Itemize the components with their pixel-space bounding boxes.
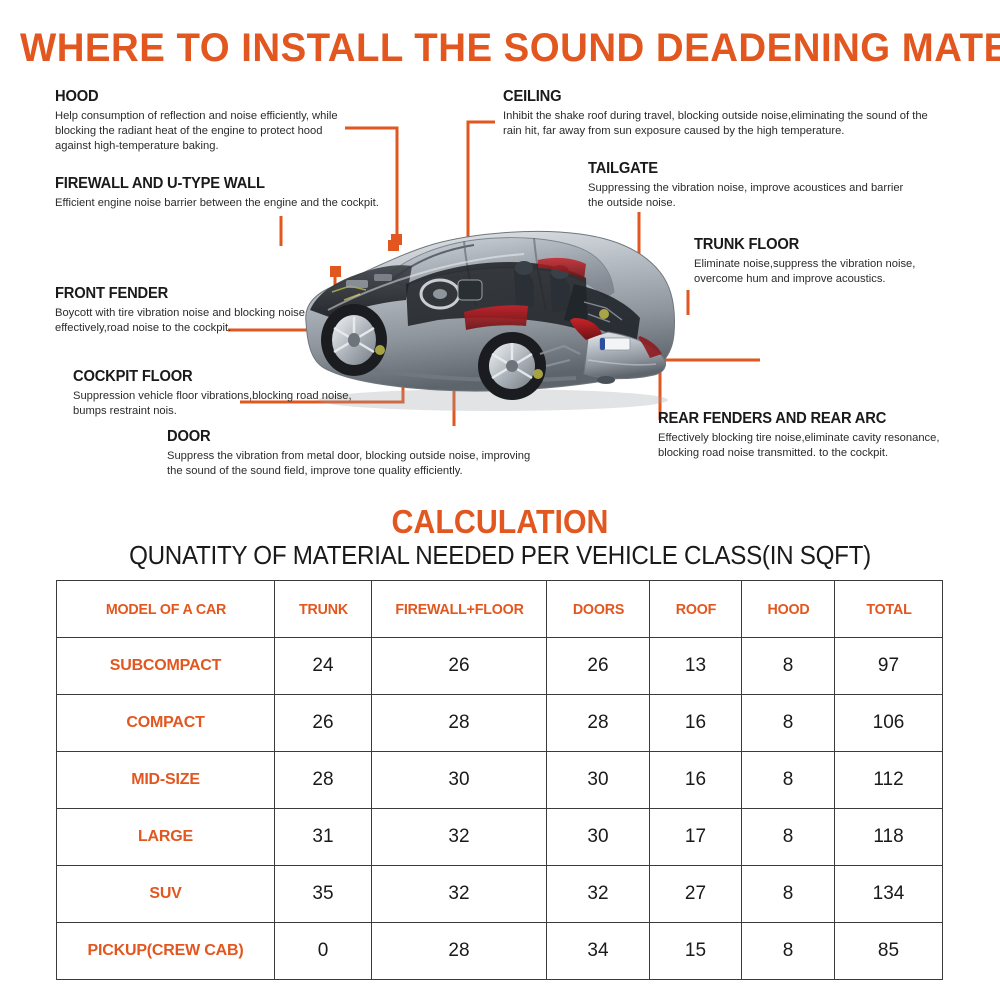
table-row: LARGE 31 32 30 17 8 118 [57, 809, 943, 866]
cell-trunk: 24 [275, 638, 372, 695]
cell-hood: 8 [742, 866, 835, 923]
cell-roof: 16 [650, 695, 742, 752]
callout-firewall-body: Efficient engine noise barrier between t… [55, 196, 385, 211]
callout-front-fender-heading: FRONT FENDER [55, 285, 313, 303]
callout-tailgate-heading: TAILGATE [588, 160, 892, 178]
callout-trunk-floor: TRUNK FLOOR Eliminate noise,suppress the… [694, 236, 956, 287]
callout-ceiling: CEILING Inhibit the shake roof during tr… [503, 88, 935, 139]
cell-firewall-floor: 32 [372, 809, 547, 866]
cell-hood: 8 [742, 809, 835, 866]
callout-ceiling-heading: CEILING [503, 88, 913, 106]
cell-model: PICKUP(CREW CAB) [57, 923, 275, 980]
front-wheel [321, 304, 387, 376]
column-header-hood: HOOD [744, 581, 832, 638]
callout-rear-fenders-body: Effectively blocking tire noise,eliminat… [658, 431, 958, 461]
cell-trunk: 35 [275, 866, 372, 923]
cell-firewall-floor: 28 [372, 923, 547, 980]
cell-total: 118 [835, 809, 943, 866]
cell-total: 85 [835, 923, 943, 980]
table-row: SUV 35 32 32 27 8 134 [57, 866, 943, 923]
callout-trunk-floor-heading: TRUNK FLOOR [694, 236, 943, 254]
cell-model: COMPACT [57, 695, 275, 752]
cell-total: 106 [835, 695, 943, 752]
cell-model: LARGE [57, 809, 275, 866]
cell-total: 112 [835, 752, 943, 809]
cell-roof: 27 [650, 866, 742, 923]
table-row: SUBCOMPACT 24 26 26 13 8 97 [57, 638, 943, 695]
table-row: MID-SIZE 28 30 30 16 8 112 [57, 752, 943, 809]
cell-trunk: 28 [275, 752, 372, 809]
cell-hood: 8 [742, 638, 835, 695]
cell-doors: 32 [547, 866, 650, 923]
column-header-total: TOTAL [837, 581, 940, 638]
column-header-model: MODEL OF A CAR [62, 581, 269, 638]
material-quantity-table: MODEL OF A CAR TRUNK FIREWALL+FLOOR DOOR… [56, 580, 943, 980]
callout-trunk-floor-body: Eliminate noise,suppress the vibration n… [694, 257, 956, 287]
callout-hood-body: Help consumption of reflection and noise… [55, 109, 355, 154]
callout-front-fender: FRONT FENDER Boycott with tire vibration… [55, 285, 327, 336]
calculation-title: CALCULATION [40, 503, 960, 541]
cell-roof: 13 [650, 638, 742, 695]
callout-firewall-heading: FIREWALL AND U-TYPE WALL [55, 175, 369, 193]
cell-model: SUBCOMPACT [57, 638, 275, 695]
cell-doors: 34 [547, 923, 650, 980]
cell-hood: 8 [742, 752, 835, 809]
cell-firewall-floor: 28 [372, 695, 547, 752]
cell-roof: 16 [650, 752, 742, 809]
callout-ceiling-body: Inhibit the shake roof during travel, bl… [503, 109, 935, 139]
callout-rear-fenders: REAR FENDERS AND REAR ARC Effectively bl… [658, 410, 958, 461]
cell-hood: 8 [742, 923, 835, 980]
rear-wheel [478, 332, 546, 400]
callout-tailgate-body: Suppressing the vibration noise, improve… [588, 181, 908, 211]
cell-model: SUV [57, 866, 275, 923]
cell-total: 134 [835, 866, 943, 923]
callout-firewall: FIREWALL AND U-TYPE WALL Efficient engin… [55, 175, 385, 211]
callout-door-heading: DOOR [167, 428, 520, 446]
callout-cockpit-floor: COCKPIT FLOOR Suppression vehicle floor … [73, 368, 363, 419]
cell-trunk: 0 [275, 923, 372, 980]
callout-tailgate: TAILGATE Suppressing the vibration noise… [588, 160, 908, 211]
column-header-doors: DOORS [549, 581, 647, 638]
infographic-page: WHERE TO INSTALL THE SOUND DEADENING MAT… [0, 0, 1000, 1000]
cell-doors: 26 [547, 638, 650, 695]
callout-hood-heading: HOOD [55, 88, 340, 106]
cell-roof: 15 [650, 923, 742, 980]
callout-rear-fenders-heading: REAR FENDERS AND REAR ARC [658, 410, 943, 428]
page-title: WHERE TO INSTALL THE SOUND DEADENING MAT… [20, 26, 980, 71]
material-table-wrapper: MODEL OF A CAR TRUNK FIREWALL+FLOOR DOOR… [56, 580, 942, 980]
calculation-subtitle: QUNATITY OF MATERIAL NEEDED PER VEHICLE … [35, 540, 965, 571]
callout-cockpit-floor-body: Suppression vehicle floor vibrations,blo… [73, 389, 363, 419]
callout-door-body: Suppress the vibration from metal door, … [167, 449, 539, 479]
table-row: PICKUP(CREW CAB) 0 28 34 15 8 85 [57, 923, 943, 980]
cell-hood: 8 [742, 695, 835, 752]
callout-cockpit-floor-heading: COCKPIT FLOOR [73, 368, 349, 386]
cell-model: MID-SIZE [57, 752, 275, 809]
column-header-roof: ROOF [652, 581, 739, 638]
table-row: COMPACT 26 28 28 16 8 106 [57, 695, 943, 752]
cell-trunk: 31 [275, 809, 372, 866]
callout-hood: HOOD Help consumption of reflection and … [55, 88, 355, 154]
cell-doors: 30 [547, 752, 650, 809]
cell-firewall-floor: 30 [372, 752, 547, 809]
column-header-trunk: TRUNK [277, 581, 369, 638]
cell-trunk: 26 [275, 695, 372, 752]
column-header-firewall-floor: FIREWALL+FLOOR [376, 581, 542, 638]
cell-firewall-floor: 26 [372, 638, 547, 695]
cell-firewall-floor: 32 [372, 866, 547, 923]
table-header-row: MODEL OF A CAR TRUNK FIREWALL+FLOOR DOOR… [57, 581, 943, 638]
cell-total: 97 [835, 638, 943, 695]
cell-doors: 30 [547, 809, 650, 866]
cell-doors: 28 [547, 695, 650, 752]
cell-roof: 17 [650, 809, 742, 866]
callout-front-fender-body: Boycott with tire vibration noise and bl… [55, 306, 327, 336]
callout-door: DOOR Suppress the vibration from metal d… [167, 428, 539, 479]
